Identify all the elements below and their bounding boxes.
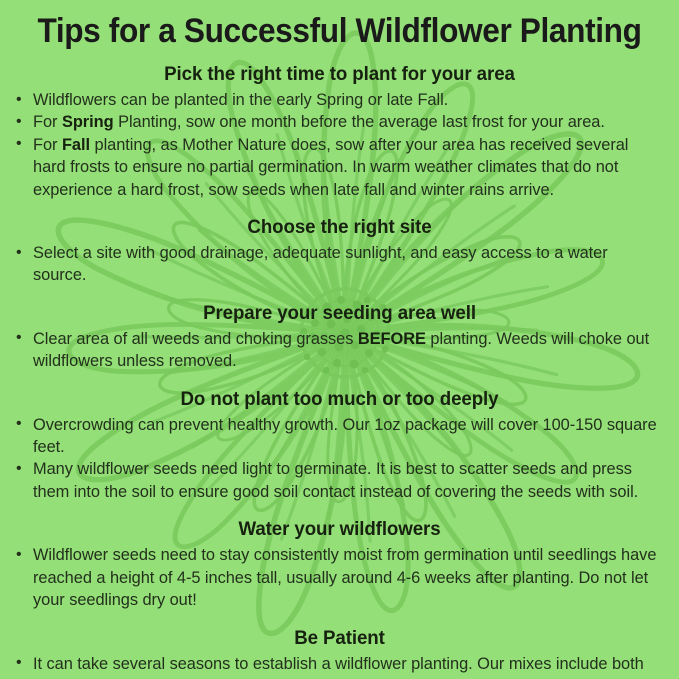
list-item: Clear area of all weeds and choking gras…	[9, 328, 665, 373]
tips-section: Choose the right siteSelect a site with …	[0, 215, 679, 287]
list-item: It can take several seasons to establish…	[9, 653, 665, 679]
list-item: Wildflowers can be planted in the early …	[9, 89, 665, 111]
section-heading: Choose the right site	[23, 215, 656, 239]
section-heading: Pick the right time to plant for your ar…	[23, 62, 656, 86]
list-item: Overcrowding can prevent healthy growth.…	[9, 414, 665, 459]
tips-section: Pick the right time to plant for your ar…	[0, 62, 679, 201]
bullet-list: It can take several seasons to establish…	[0, 653, 679, 679]
tips-section: Water your wildflowersWildflower seeds n…	[0, 517, 679, 611]
tips-section: Do not plant too much or too deeplyOverc…	[0, 387, 679, 504]
emphasis-text: BEFORE	[358, 330, 426, 348]
list-item: Many wildflower seeds need light to germ…	[9, 458, 665, 503]
wildflower-tips-poster: Tips for a Successful Wildflower Plantin…	[0, 0, 679, 679]
emphasis-text: Fall	[62, 136, 90, 154]
tips-section: Prepare your seeding area wellClear area…	[0, 301, 679, 373]
list-item: Select a site with good drainage, adequa…	[9, 242, 665, 287]
tips-section-list: Pick the right time to plant for your ar…	[0, 62, 679, 679]
tips-section: Be PatientIt can take several seasons to…	[0, 626, 679, 679]
bullet-list: Overcrowding can prevent healthy growth.…	[0, 414, 679, 504]
emphasis-text: Spring	[62, 113, 114, 131]
list-item: For Spring Planting, sow one month befor…	[9, 111, 665, 133]
poster-content: Tips for a Successful Wildflower Plantin…	[0, 11, 679, 679]
bullet-list: Wildflower seeds need to stay consistent…	[0, 544, 679, 611]
section-heading: Do not plant too much or too deeply	[23, 387, 656, 411]
section-heading: Be Patient	[23, 626, 656, 650]
section-heading: Prepare your seeding area well	[23, 301, 656, 325]
bullet-list: Clear area of all weeds and choking gras…	[0, 328, 679, 373]
page-title: Tips for a Successful Wildflower Plantin…	[37, 11, 642, 51]
section-heading: Water your wildflowers	[23, 517, 656, 541]
bullet-list: Wildflowers can be planted in the early …	[0, 89, 679, 201]
bullet-list: Select a site with good drainage, adequa…	[0, 242, 679, 287]
list-item: Wildflower seeds need to stay consistent…	[9, 544, 665, 611]
list-item: For Fall planting, as Mother Nature does…	[9, 134, 665, 201]
